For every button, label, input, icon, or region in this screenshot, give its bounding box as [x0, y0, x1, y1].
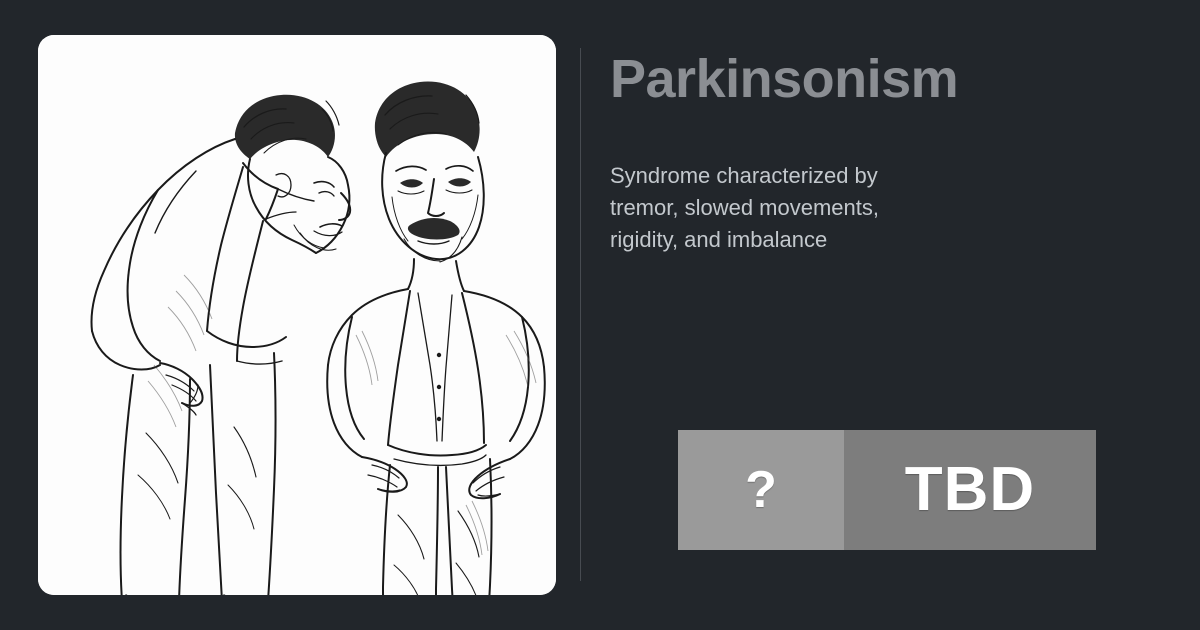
tbd-status-badge[interactable]: ? TBD	[678, 430, 1096, 550]
illustration-pane	[0, 0, 580, 630]
info-pane: Parkinsonism Syndrome characterized by t…	[580, 0, 1200, 630]
badge-label: TBD	[905, 459, 1035, 521]
preview-card: Parkinsonism Syndrome characterized by t…	[0, 0, 1200, 630]
question-mark-icon: ?	[745, 464, 777, 516]
page-title: Parkinsonism	[610, 50, 958, 109]
badge-icon-segment: ?	[678, 430, 844, 550]
badge-label-segment: TBD	[844, 430, 1096, 550]
description-text: Syndrome characterized by tremor, slowed…	[610, 160, 940, 256]
illustration-frame	[38, 35, 556, 595]
parkinsonism-line-drawing	[38, 35, 556, 595]
